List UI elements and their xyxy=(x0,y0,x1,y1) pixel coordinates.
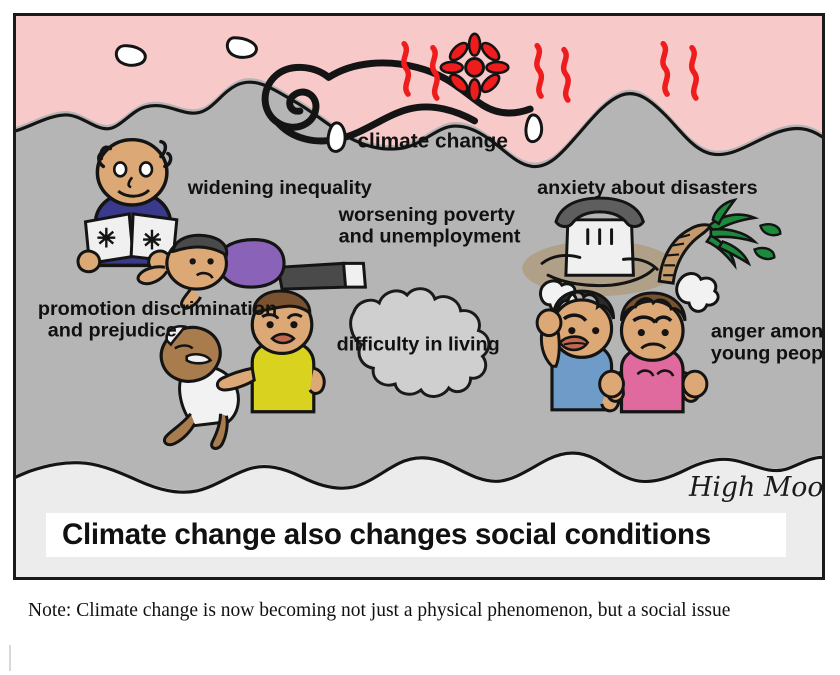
label-anger-among-line1: anger among xyxy=(711,321,822,343)
label-climate-change: climate change xyxy=(357,130,508,153)
page-edge-mark xyxy=(9,645,11,671)
artist-signature: High Moon xyxy=(688,472,822,503)
label-worsening-poverty-line2: and unemployment xyxy=(339,226,521,248)
label-promotion-discrimination-line2: and prejudice xyxy=(48,320,177,342)
label-anxiety-about-disasters: anxiety about disasters xyxy=(537,177,758,199)
label-promotion-discrimination-line1: promotion discrimination xyxy=(38,298,277,320)
cartoon-illustration-frame: climate change widening inequality worse… xyxy=(13,13,825,580)
title-banner-text: Climate change also changes social condi… xyxy=(46,518,711,552)
cartoon-canvas: climate change widening inequality worse… xyxy=(16,16,822,577)
label-widening-inequality: widening inequality xyxy=(187,177,372,199)
figure-note: Note: Climate change is now becoming not… xyxy=(28,600,818,622)
label-difficulty-in-living: difficulty in living xyxy=(337,333,500,355)
title-banner: Climate change also changes social condi… xyxy=(46,513,786,557)
label-worsening-poverty-line1: worsening poverty xyxy=(338,204,515,226)
label-anger-among-line2: young people xyxy=(711,342,822,364)
